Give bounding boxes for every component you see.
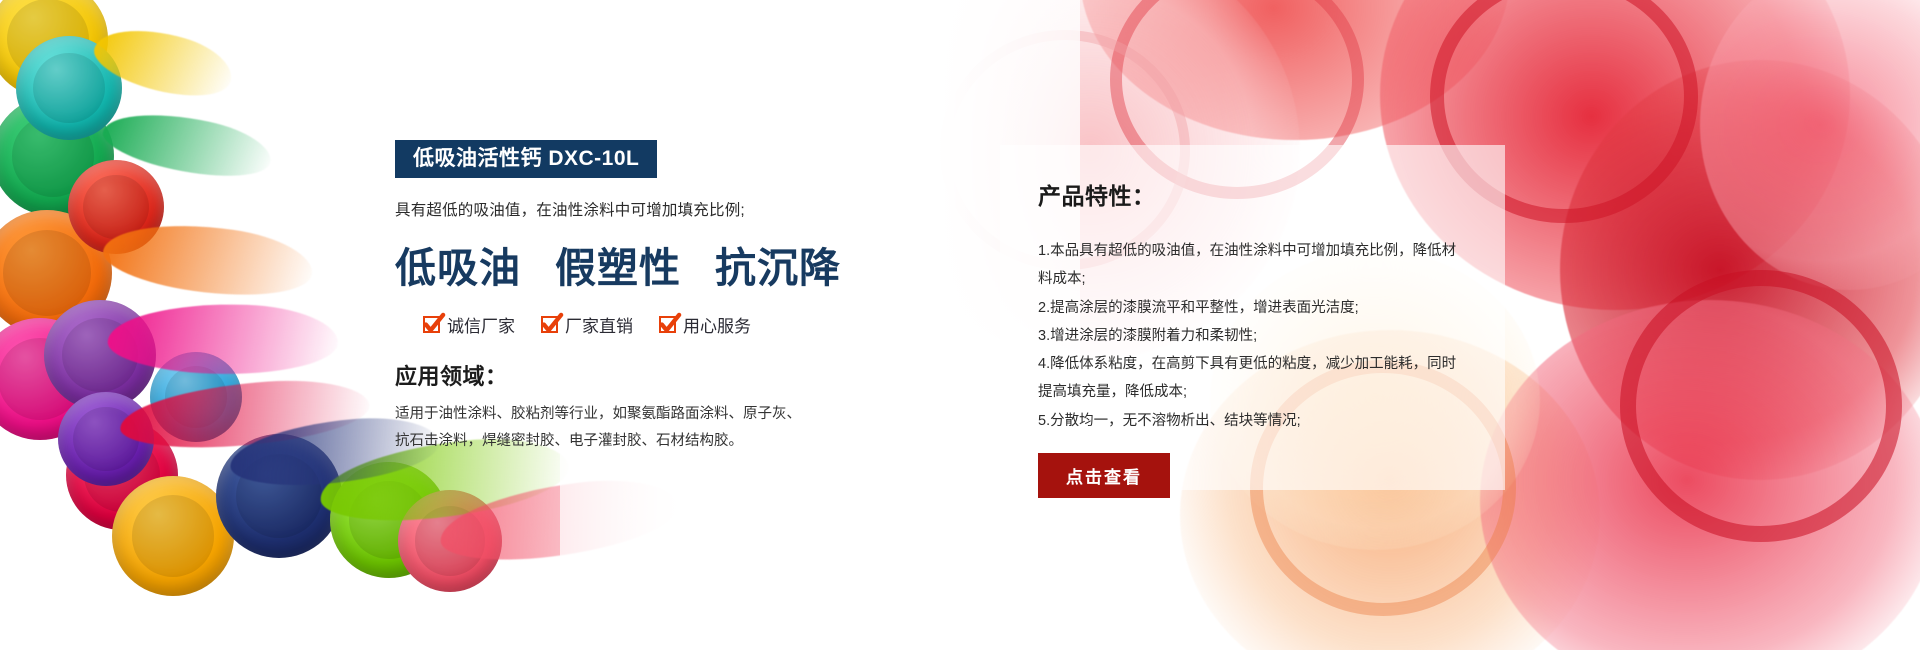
application-section-title: 应用领域： (395, 359, 955, 391)
feature-item: 5.分散均一，无不溶物析出、结块等情况; (1038, 407, 1467, 435)
panel-title: 产品特性： (1038, 177, 1467, 211)
feature-item: 1.本品具有超低的吸油值，在油性涂料中可增加填充比例，降低材料成本; (1038, 237, 1467, 294)
trust-feature-row: 诚信厂家 厂家直销 用心服务 (423, 312, 955, 337)
trust-feature-3: 用心服务 (659, 312, 751, 337)
application-section-body: 适用于油性涂料、胶粘剂等行业，如聚氨酯路面涂料、原子灰、抗石击涂料，焊缝密封胶、… (395, 401, 815, 455)
product-banner: 低吸油活性钙 DXC-10L 具有超低的吸油值，在油性涂料中可增加填充比例; 低… (0, 0, 1920, 650)
headline-part-1: 低吸油 (395, 245, 521, 291)
product-features-list: 1.本品具有超低的吸油值，在油性涂料中可增加填充比例，降低材料成本; 2.提高涂… (1038, 237, 1467, 435)
checkbox-checked-icon (659, 316, 676, 333)
product-title-badge: 低吸油活性钙 DXC-10L (395, 140, 657, 178)
trust-feature-label-1: 诚信厂家 (447, 312, 515, 337)
checkbox-checked-icon (423, 316, 440, 333)
trust-feature-1: 诚信厂家 (423, 312, 515, 337)
trust-feature-label-2: 厂家直销 (565, 312, 633, 337)
headline-keywords: 低吸油假塑性抗沉降 (395, 234, 955, 294)
headline-part-3: 抗沉降 (715, 245, 841, 291)
paint-ring-3 (1620, 270, 1902, 542)
feature-item: 2.提高涂层的漆膜流平和平整性，增进表面光洁度; (1038, 294, 1467, 322)
background-artwork (0, 0, 1920, 650)
product-features-panel: 产品特性： 1.本品具有超低的吸油值，在油性涂料中可增加填充比例，降低材料成本;… (1000, 145, 1505, 490)
left-content-block: 低吸油活性钙 DXC-10L 具有超低的吸油值，在油性涂料中可增加填充比例; 低… (395, 140, 955, 455)
feature-item: 3.增进涂层的漆膜附着力和柔韧性; (1038, 322, 1467, 350)
product-subtitle: 具有超低的吸油值，在油性涂料中可增加填充比例; (395, 198, 955, 220)
headline-part-2: 假塑性 (555, 245, 681, 291)
checkbox-checked-icon (541, 316, 558, 333)
trust-feature-2: 厂家直销 (541, 312, 633, 337)
trust-feature-label-3: 用心服务 (683, 312, 751, 337)
view-details-button[interactable]: 点击查看 (1038, 453, 1170, 498)
feature-item: 4.降低体系粘度，在高剪下具有更低的粘度，减少加工能耗，同时提高填充量，降低成本… (1038, 350, 1467, 407)
